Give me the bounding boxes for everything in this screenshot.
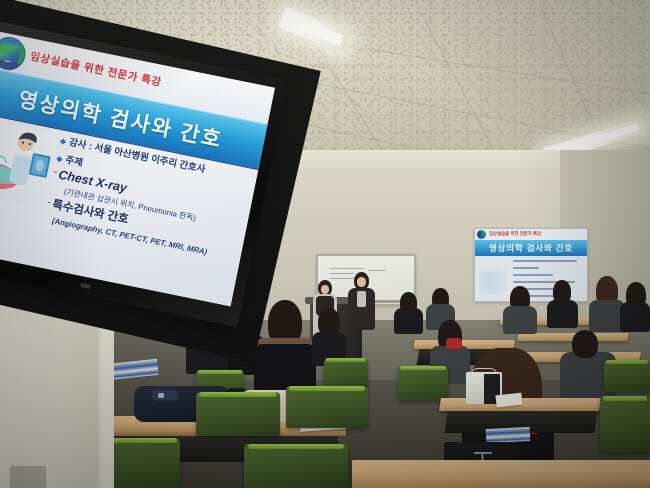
chair: [324, 358, 368, 388]
stacked-books[interactable]: [486, 427, 531, 443]
chair: [604, 360, 650, 392]
secondary-slide-title: 영상의학 검사와 간호: [475, 240, 587, 256]
student-body: [394, 308, 423, 334]
backpack-logo-icon: [158, 393, 164, 398]
university-emblem-small: [477, 230, 486, 239]
red-hair-accessory: [446, 338, 462, 349]
baseboard-panel: [10, 466, 46, 488]
university-emblem-shield: [0, 42, 21, 63]
speaker-right-shirt: [357, 291, 366, 307]
chair-foreground-mid: [196, 392, 280, 436]
student-body: [503, 306, 537, 334]
diamond-bullet-icon: ◆: [59, 134, 68, 148]
chair-foreground-center: [244, 444, 348, 488]
secondary-slide-clipart: [479, 270, 507, 294]
chair: [398, 366, 448, 400]
student-body: [620, 302, 650, 332]
student-head: [572, 330, 598, 358]
desk-foreground-right: [352, 460, 650, 488]
student-body: [254, 344, 316, 392]
chair-right: [600, 396, 650, 452]
secondary-slide-header-text: 임상실습을 위한 전문가 특강: [489, 231, 541, 237]
backpack-pocket: [152, 390, 178, 401]
lecture-hall-photo: 임상실습을 위한 전문가 특강 영상의학 검사와 간호: [0, 0, 650, 488]
speaker-right-face: [357, 277, 366, 287]
diamond-bullet-icon: ◆: [55, 152, 64, 166]
speaker-left-face: [321, 285, 329, 294]
black-bag-mark: [474, 452, 492, 454]
slide-bullet-topic-label: 주제: [64, 154, 84, 170]
chair-foreground-mid-2: [286, 386, 368, 428]
student-body: [547, 300, 578, 328]
